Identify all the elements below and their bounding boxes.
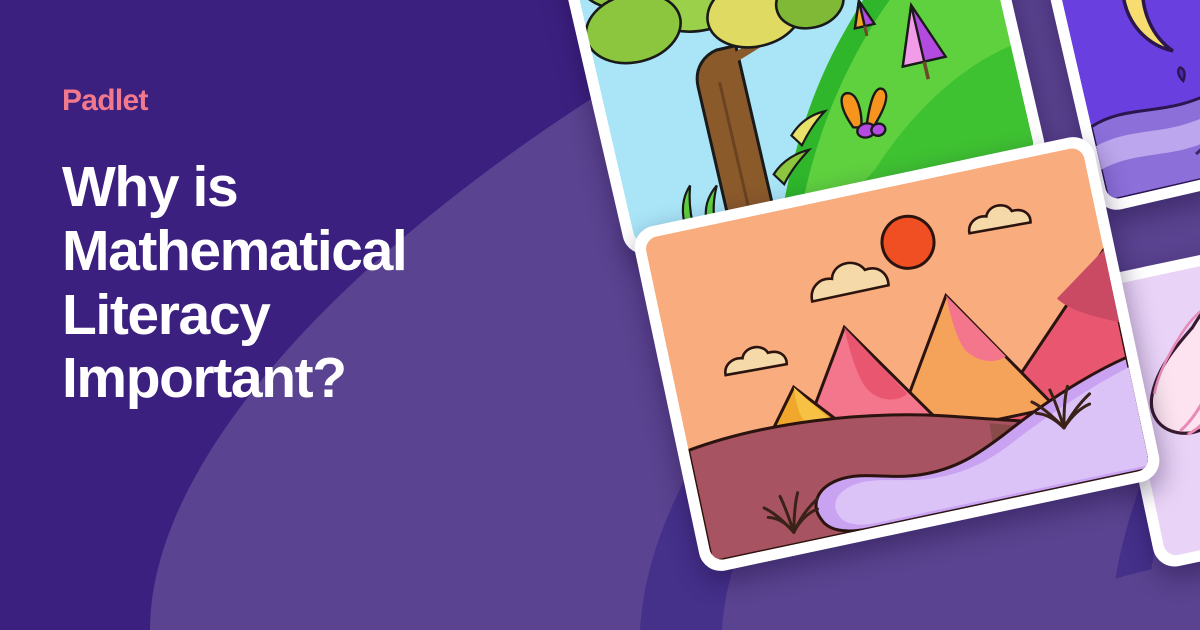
text-column: Padlet Why is Mathematical Literacy Impo… bbox=[62, 86, 532, 411]
promo-banner: Padlet Why is Mathematical Literacy Impo… bbox=[0, 0, 1200, 630]
page-title: Why is Mathematical Literacy Important? bbox=[62, 156, 532, 411]
padlet-logo[interactable]: Padlet bbox=[62, 86, 532, 116]
